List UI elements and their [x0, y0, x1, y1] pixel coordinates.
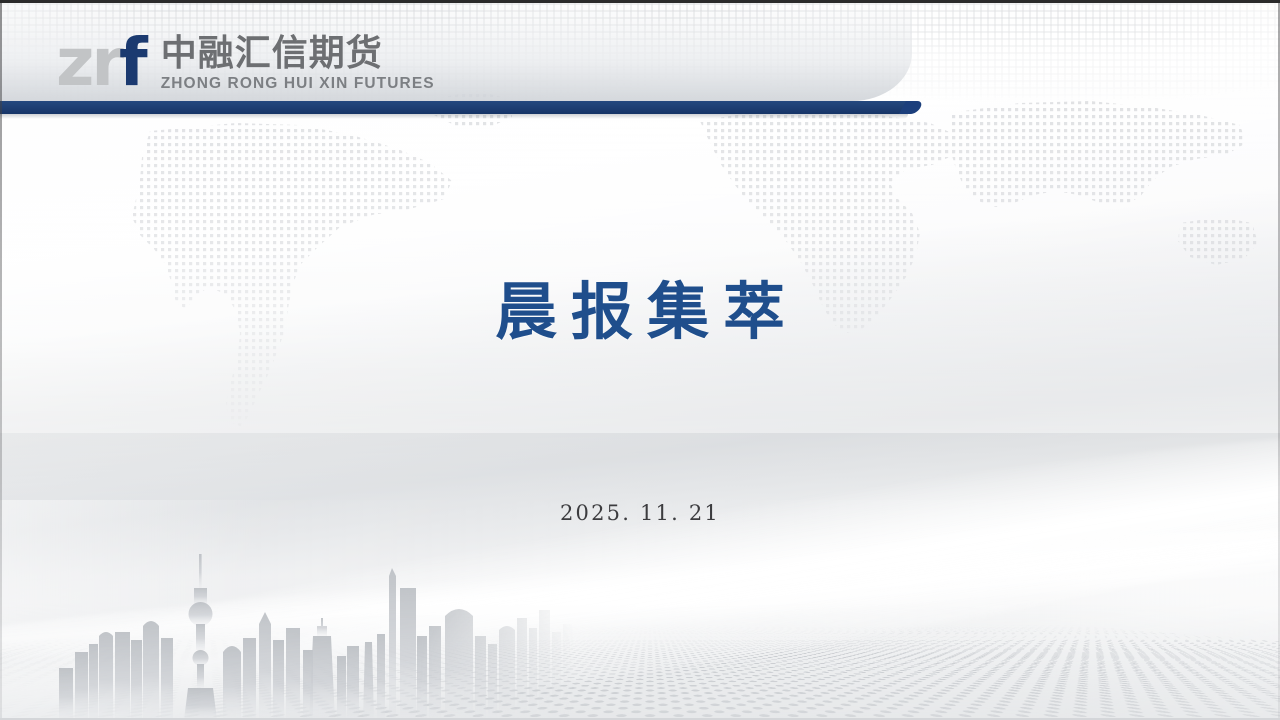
logo-wordmark: 中融汇信期货 ZHONG RONG HUI XIN FUTURES — [161, 31, 435, 93]
perspective-dot-floor — [0, 500, 1280, 720]
background-bottom-shade — [0, 603, 1280, 720]
title-slide: zrf 中融汇信期货 ZHONG RONG HUI XIN FUTURES 晨报… — [0, 0, 1280, 720]
slide-date: 2025. 11. 21 — [0, 501, 1280, 525]
background-sheen-lower — [0, 376, 1280, 720]
header-accent-bar-shadow — [0, 114, 908, 119]
logo-mark-zrf: zrf — [56, 33, 145, 93]
horizon-highlight — [0, 503, 1280, 683]
logo-company-name-cn: 中融汇信期货 — [161, 35, 435, 73]
logo-company-name-en: ZHONG RONG HUI XIN FUTURES — [161, 75, 435, 93]
company-logo: zrf 中融汇信期货 ZHONG RONG HUI XIN FUTURES — [56, 31, 435, 103]
slide-left-border — [0, 3, 2, 720]
page-title: 晨报集萃 — [0, 275, 1280, 349]
background-sheen-middle — [0, 127, 1280, 720]
logo-mark-zr: zr — [56, 33, 121, 93]
logo-mark-f: f — [119, 33, 145, 93]
skyline-silhouette — [55, 540, 575, 720]
title-block: 晨报集萃 — [0, 275, 1280, 349]
